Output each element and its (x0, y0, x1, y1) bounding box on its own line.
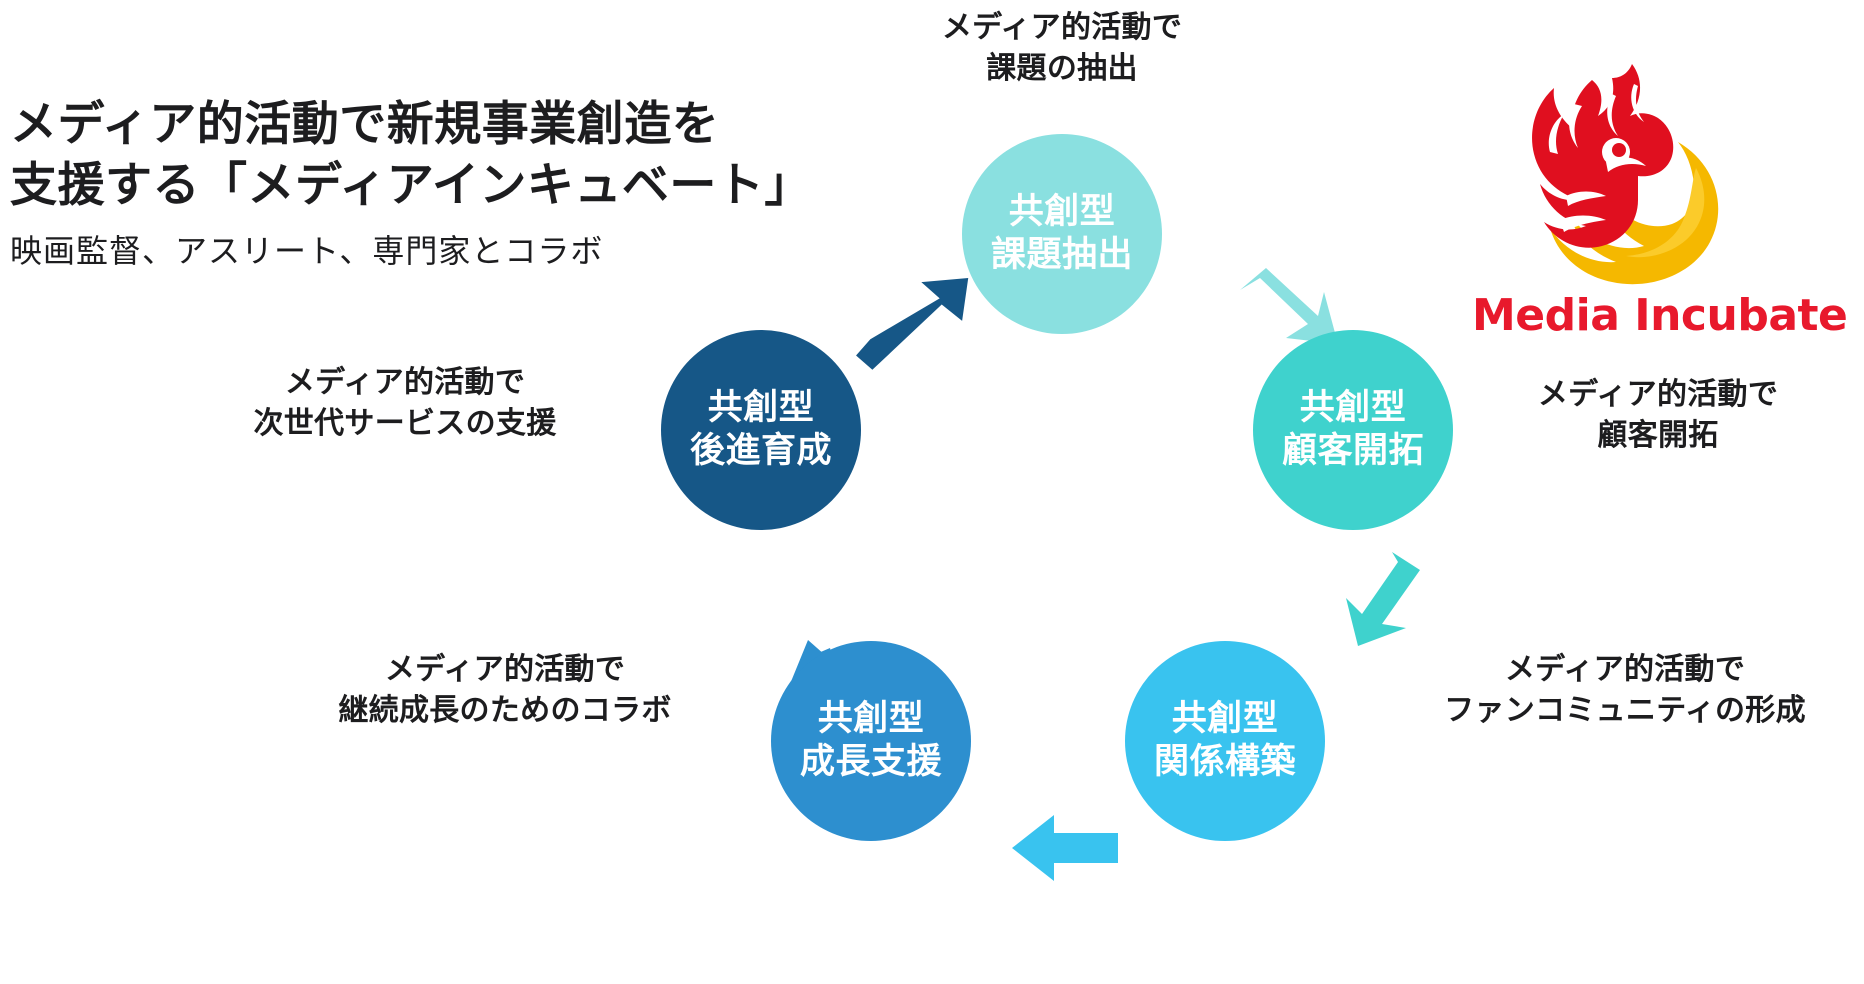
arrow-kokyaku-to-kankei-icon (1308, 542, 1428, 652)
caption-left-line1: メディア的活動で (180, 363, 630, 404)
cycle-node-kokyaku-line2: 顧客開拓 (1282, 430, 1424, 473)
caption-bottom-left-line1: メディア的活動で (280, 650, 730, 691)
page-subtitle: 映画監督、アスリート、専門家とコラボ (10, 230, 910, 273)
cycle-node-koshin-line1: 共創型 (708, 387, 815, 430)
caption-right-line1: メディア的活動で (1456, 375, 1860, 416)
caption-right: メディア的活動で 顧客開拓 (1456, 375, 1860, 457)
caption-bottom-right: メディア的活動で ファンコミュニティの形成 (1390, 650, 1860, 732)
arrow-kankei-to-seicho-icon (1010, 815, 1120, 881)
caption-left: メディア的活動で 次世代サービスの支援 (180, 363, 630, 445)
cycle-node-seicho-line2: 成長支援 (800, 741, 942, 784)
cycle-node-kankei-line2: 関係構築 (1154, 741, 1296, 784)
page-title: メディア的活動で新規事業創造を 支援する「メディアインキュベート」 (10, 93, 840, 215)
cycle-node-seicho[interactable]: 共創型 成長支援 (771, 641, 971, 841)
page-title-line1: メディア的活動で新規事業創造を (10, 93, 840, 154)
page-title-line2: 支援する「メディアインキュベート」 (10, 154, 840, 215)
cycle-node-kadai[interactable]: 共創型 課題抽出 (962, 134, 1162, 334)
cycle-node-kokyaku-line1: 共創型 (1300, 387, 1407, 430)
caption-bottom-left-line2: 継続成長のためのコラボ (280, 691, 730, 732)
arrow-koshin-to-kadai-icon (854, 282, 974, 372)
caption-bottom-right-line1: メディア的活動で (1390, 650, 1860, 691)
caption-left-line2: 次世代サービスの支援 (180, 404, 630, 445)
cycle-node-koshin-line2: 後進育成 (690, 430, 832, 473)
rooster-flame-logo-icon (1520, 56, 1750, 291)
cycle-node-koshin[interactable]: 共創型 後進育成 (661, 330, 861, 530)
caption-top-line1: メディア的活動で (782, 8, 1342, 49)
brand-logo: Media Incubate (1472, 56, 1802, 356)
cycle-node-kadai-line1: 共創型 (1009, 191, 1116, 234)
caption-top-line2: 課題の抽出 (782, 49, 1342, 90)
cycle-node-kokyaku[interactable]: 共創型 顧客開拓 (1253, 330, 1453, 530)
caption-bottom-left: メディア的活動で 継続成長のためのコラボ (280, 650, 730, 732)
brand-wordmark: Media Incubate (1472, 290, 1802, 341)
caption-top: メディア的活動で 課題の抽出 (782, 8, 1342, 90)
infographic-canvas: メディア的活動で新規事業創造を 支援する「メディアインキュベート」 映画監督、ア… (0, 0, 1864, 984)
cycle-node-seicho-line1: 共創型 (818, 698, 925, 741)
cycle-node-kadai-line2: 課題抽出 (991, 234, 1133, 277)
cycle-node-kankei-line1: 共創型 (1172, 698, 1279, 741)
cycle-node-kankei[interactable]: 共創型 関係構築 (1125, 641, 1325, 841)
caption-right-line2: 顧客開拓 (1456, 416, 1860, 457)
caption-bottom-right-line2: ファンコミュニティの形成 (1390, 691, 1860, 732)
